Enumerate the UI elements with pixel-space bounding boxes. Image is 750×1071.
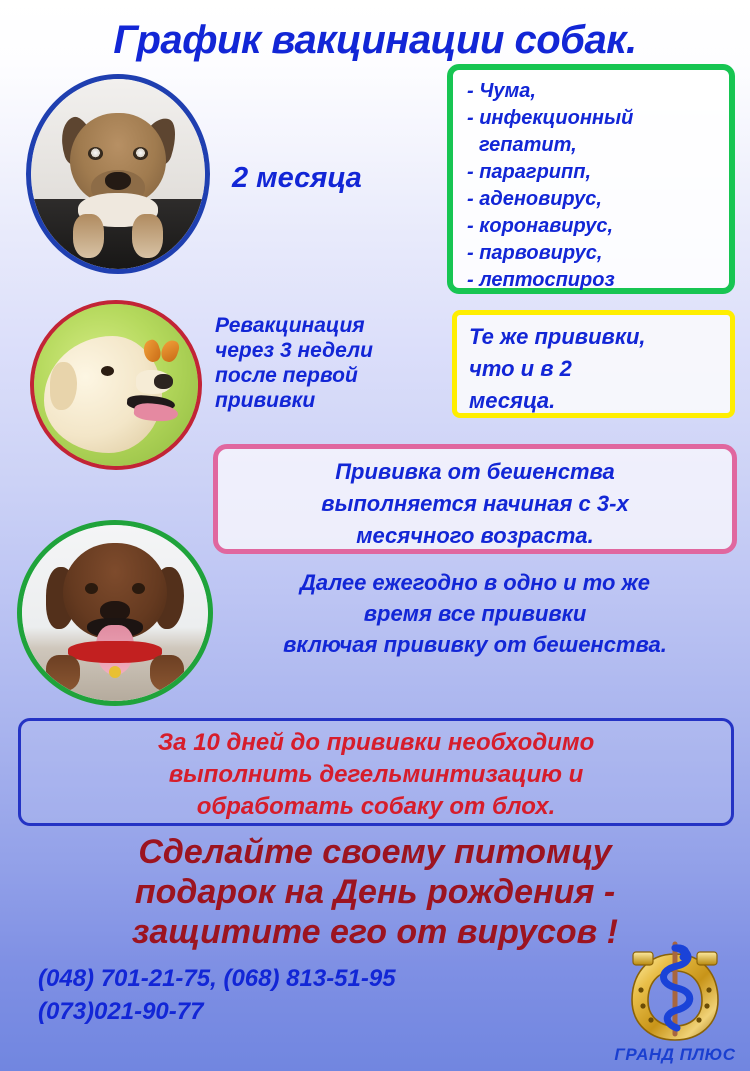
rabies-line: выполняется начиная с 3-х: [218, 488, 732, 520]
page-title: График вакцинации собак.: [0, 18, 750, 63]
deworming-warning-box: За 10 дней до прививки необходимо выполн…: [18, 718, 734, 826]
puppy-photo-inner: [31, 79, 205, 269]
lab-paw-left: [46, 655, 80, 691]
revaccination-line: Ревакцинация: [215, 313, 445, 338]
annual-line: Далее ежегодно в одно и то же: [205, 567, 745, 598]
phone-line-2[interactable]: (073)021-90-77: [38, 995, 396, 1028]
puppy-photo: [26, 74, 210, 274]
call-to-action: Сделайте своему питомцу подарок на День …: [0, 832, 750, 952]
vaccine-item: гепатит,: [467, 132, 729, 159]
revaccination-text: Ревакцинация через 3 недели после первой…: [215, 313, 445, 413]
rabies-line: Прививка от бешенства: [218, 456, 732, 488]
puppy-eye-right: [133, 147, 148, 160]
vaccine-item: - коронавирус,: [467, 213, 729, 240]
revaccination-line: прививки: [215, 388, 445, 413]
puppy-paw-left: [73, 214, 104, 258]
vaccination-schedule-poster: График вакцинации собак.: [0, 0, 750, 1071]
revaccination-line: через 3 недели: [215, 338, 445, 363]
butterfly-icon: [144, 340, 178, 364]
cta-line: подарок на День рождения -: [0, 872, 750, 912]
lab-collar: [68, 641, 162, 663]
vaccine-item: - аденовирус,: [467, 186, 729, 213]
vaccine-list-box: - Чума, - инфекционный гепатит, - парагр…: [447, 64, 735, 294]
phone-line-1[interactable]: (048) 701-21-75, (068) 813-51-95: [38, 962, 396, 995]
contact-phone-numbers[interactable]: (048) 701-21-75, (068) 813-51-95 (073)02…: [38, 962, 396, 1028]
logo-text: ГРАНД ПЛЮС: [607, 1045, 743, 1065]
annual-line: время все прививки: [205, 598, 745, 629]
vaccine-item: - лептоспироз: [467, 267, 729, 294]
rabies-line: месячного возраста.: [218, 520, 732, 552]
vaccine-item: - парвовирус,: [467, 240, 729, 267]
vaccine-item: - инфекционный: [467, 105, 729, 132]
clinic-logo[interactable]: ГРАНД ПЛЮС: [607, 938, 743, 1066]
revaccination-line: после первой: [215, 363, 445, 388]
deworming-line: обработать собаку от блох.: [21, 791, 731, 823]
lab-eye-right: [132, 583, 145, 594]
puppy-paw-right: [132, 214, 163, 258]
cta-line: Сделайте своему питомцу: [0, 832, 750, 872]
same-vaccines-line: месяца.: [469, 385, 722, 417]
golden-retriever-photo: [30, 300, 202, 470]
deworming-line: выполнить дегельминтизацию и: [21, 759, 731, 791]
lab-paw-right: [150, 655, 184, 691]
golden-eye: [101, 366, 114, 376]
vaccine-item: - Чума,: [467, 78, 729, 105]
golden-photo-inner: [34, 304, 198, 466]
chocolate-labrador-photo: [17, 520, 213, 706]
annual-revaccination-text: Далее ежегодно в одно и то же время все …: [205, 567, 745, 660]
same-vaccines-line: Те же прививки,: [469, 321, 722, 353]
lab-photo-inner: [22, 525, 208, 701]
deworming-line: За 10 дней до прививки необходимо: [21, 727, 731, 759]
age-label-2-months: 2 месяца: [232, 162, 362, 195]
same-vaccines-line: что и в 2: [469, 353, 722, 385]
vaccine-item: - парагрипп,: [467, 159, 729, 186]
same-vaccines-box: Те же прививки, что и в 2 месяца.: [452, 310, 735, 418]
horseshoe-caduceus-icon: [607, 938, 743, 1050]
puppy-nose: [105, 172, 131, 190]
annual-line: включая прививку от бешенства.: [205, 629, 745, 660]
vaccine-list: - Чума, - инфекционный гепатит, - парагр…: [467, 78, 729, 294]
butterfly-wing-left: [141, 338, 163, 364]
lab-collar-tag: [109, 666, 121, 678]
butterfly-wing-right: [159, 338, 181, 364]
rabies-vaccine-box: Прививка от бешенства выполняется начина…: [213, 444, 737, 554]
golden-nose: [154, 374, 173, 389]
